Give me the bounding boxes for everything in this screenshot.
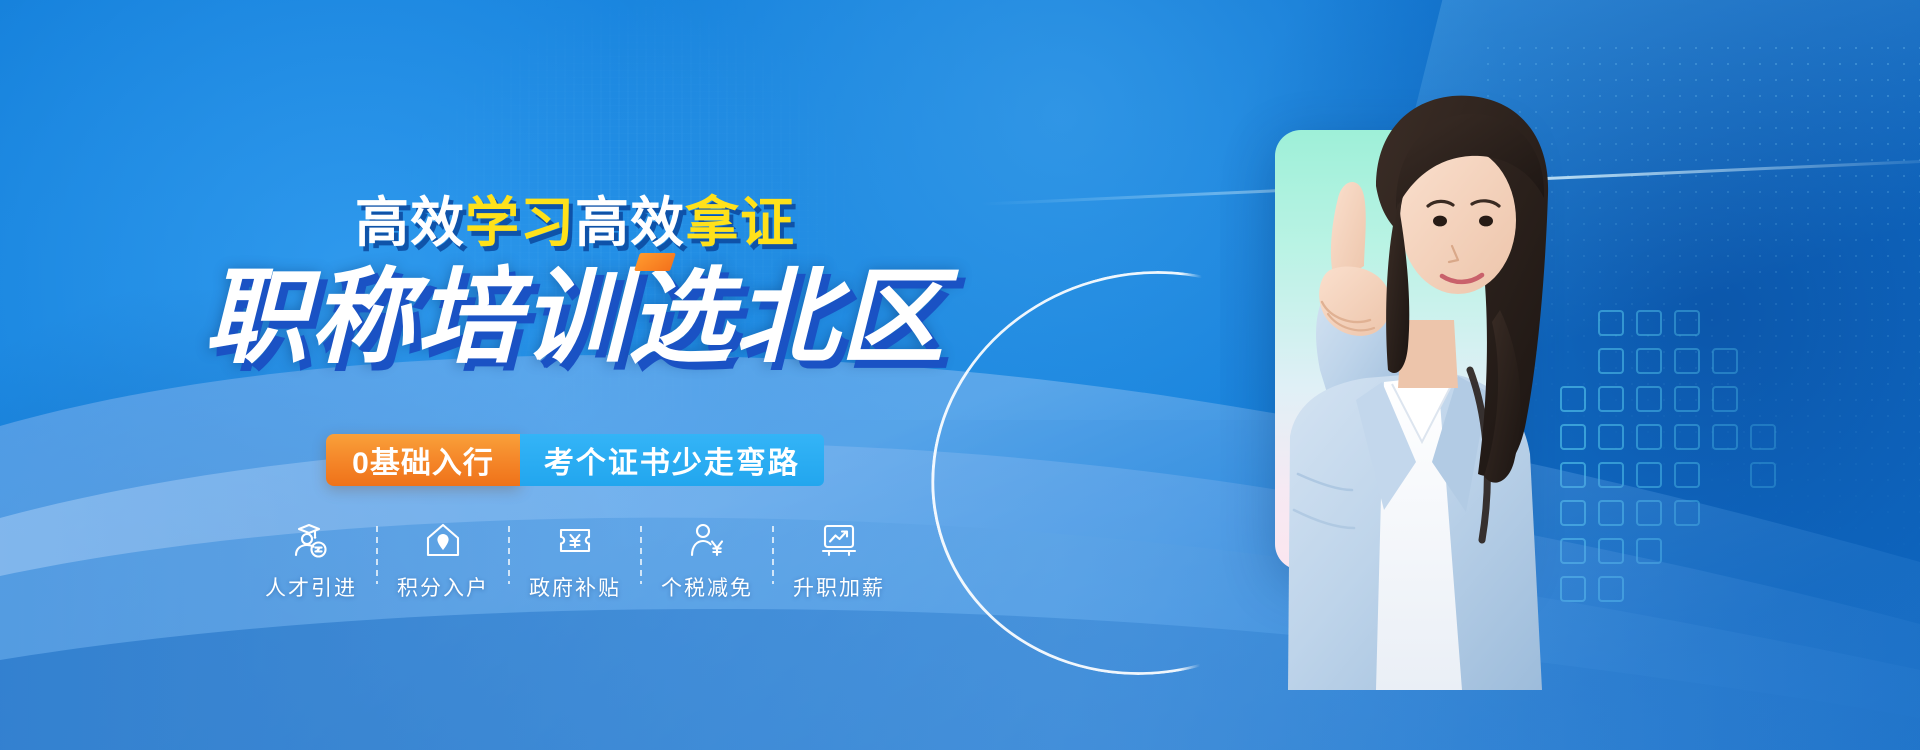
grid-square — [1598, 538, 1624, 564]
grid-square — [1674, 348, 1700, 374]
grid-square — [1636, 386, 1662, 412]
headline-part-1: 职称培训 — [204, 260, 628, 376]
grid-square — [1598, 348, 1624, 374]
grid-square — [1636, 348, 1662, 374]
grid-square — [1674, 500, 1700, 526]
grid-square — [1598, 576, 1624, 602]
grid-square — [1674, 386, 1700, 412]
feature-list: 人才引进 积分入户 政府补贴 — [0, 520, 1150, 602]
grid-square — [1598, 462, 1624, 488]
coupon-yuan-icon — [555, 520, 595, 560]
grid-square — [1636, 538, 1662, 564]
house-pin-icon — [423, 520, 463, 560]
grid-square — [1750, 462, 1776, 488]
feature-item-promotion[interactable]: 升职加薪 — [774, 520, 904, 602]
feature-item-residency[interactable]: 积分入户 — [378, 520, 508, 602]
grid-square — [1636, 310, 1662, 336]
feature-label: 升职加薪 — [793, 572, 885, 602]
grid-square — [1712, 424, 1738, 450]
copy-block: 高效学习高效拿证 职称培训选北区 0基础入行 考个证书少走弯路 人才引进 — [0, 0, 1150, 750]
feature-label: 政府补贴 — [529, 572, 621, 602]
grid-square — [1636, 500, 1662, 526]
grid-square — [1636, 424, 1662, 450]
feature-label: 积分入户 — [397, 572, 489, 602]
subheadline-part-2: 学习 — [465, 193, 575, 253]
graduate-person-icon — [291, 520, 331, 560]
tagline-bar: 0基础入行 考个证书少走弯路 — [0, 434, 1150, 486]
subheadline-part-3: 高效 — [575, 193, 685, 253]
grid-square — [1712, 348, 1738, 374]
grid-square — [1674, 462, 1700, 488]
feature-item-subsidy[interactable]: 政府补贴 — [510, 520, 640, 602]
person-illustration — [1170, 70, 1600, 690]
tagline-text: 考个证书少走弯路 — [520, 434, 824, 486]
grid-square — [1598, 310, 1624, 336]
main-headline: 职称培训选北区 — [0, 266, 1150, 370]
grid-square — [1712, 386, 1738, 412]
grid-square — [1598, 500, 1624, 526]
headline-part-3: 北区 — [734, 260, 946, 376]
tagline-badge: 0基础入行 — [326, 434, 520, 486]
feature-label: 人才引进 — [265, 572, 357, 602]
grid-square — [1598, 424, 1624, 450]
feature-label: 个税减免 — [661, 572, 753, 602]
feature-item-tax[interactable]: 个税减免 — [642, 520, 772, 602]
feature-item-talent[interactable]: 人才引进 — [246, 520, 376, 602]
person-yuan-icon — [687, 520, 727, 560]
subheadline-part-4: 拿证 — [685, 193, 795, 253]
headline-part-2-highlighted: 选 — [628, 266, 734, 370]
promo-banner: 高效学习高效拿证 职称培训选北区 0基础入行 考个证书少走弯路 人才引进 — [0, 0, 1920, 750]
chart-board-icon — [819, 520, 859, 560]
grid-square — [1598, 386, 1624, 412]
background-square-grid-texture — [1560, 310, 1890, 640]
grid-square — [1674, 424, 1700, 450]
subheadline: 高效学习高效拿证 — [0, 196, 1150, 250]
grid-square — [1750, 424, 1776, 450]
subheadline-part-1: 高效 — [355, 193, 465, 253]
grid-square — [1636, 462, 1662, 488]
grid-square — [1674, 310, 1700, 336]
